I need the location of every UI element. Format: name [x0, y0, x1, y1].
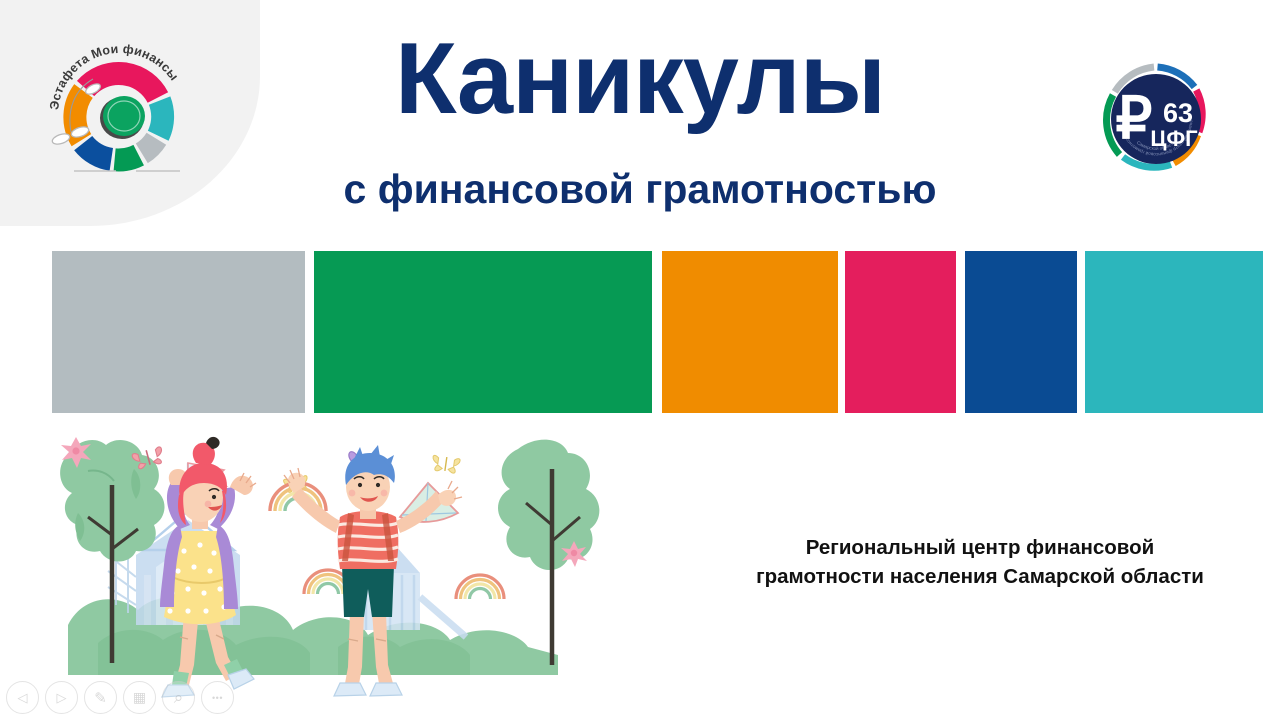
zoom-tool-button[interactable]: ⌕ — [162, 681, 195, 714]
magnifier-icon: ⌕ — [174, 688, 184, 708]
color-bar-strip — [0, 251, 1280, 413]
all-slides-button[interactable]: ▦ — [123, 681, 156, 714]
more-options-button[interactable]: ••• — [201, 681, 234, 714]
caption-line-2: грамотности населения Самарской области — [720, 562, 1240, 591]
next-slide-icon: ▷ — [57, 690, 67, 706]
rcfg-63-emblem: Региональный центр финансовой грамотност… — [1096, 60, 1216, 178]
bar-teal — [1085, 251, 1263, 413]
rainbow-right — [456, 575, 504, 599]
presentation-slide: Эстафета Мои финансы Каникулы с финансов… — [0, 0, 1280, 718]
next-slide-button[interactable]: ▷ — [45, 681, 78, 714]
pen-icon: ✎ — [94, 689, 107, 707]
grid-icon: ▦ — [133, 689, 146, 706]
organization-caption: Региональный центр финансовой грамотност… — [720, 533, 1240, 591]
slide-subtitle: с финансовой грамотностью — [0, 166, 1280, 213]
bar-orange — [662, 251, 838, 413]
butterfly-yellow — [431, 455, 460, 474]
ruble-symbol-icon: ₽ — [1116, 86, 1153, 151]
emblem-number: 63 — [1163, 98, 1193, 128]
caption-line-1: Региональный центр финансовой — [720, 533, 1240, 562]
slide-title: Каникулы — [0, 26, 1280, 132]
pen-tool-button[interactable]: ✎ — [84, 681, 117, 714]
kids-in-park-illustration — [38, 425, 618, 710]
emblem-abbreviation: ЦФГ — [1150, 126, 1198, 151]
tree-right — [498, 440, 599, 665]
bar-grey — [52, 251, 305, 413]
bar-blue — [965, 251, 1077, 413]
previous-slide-button[interactable]: ◁ — [6, 681, 39, 714]
bar-green — [314, 251, 652, 413]
presenter-toolbar[interactable]: ◁ ▷ ✎ ▦ ⌕ ••• — [6, 681, 234, 714]
previous-slide-icon: ◁ — [18, 690, 28, 706]
more-icon: ••• — [212, 693, 223, 703]
bar-pink — [845, 251, 956, 413]
